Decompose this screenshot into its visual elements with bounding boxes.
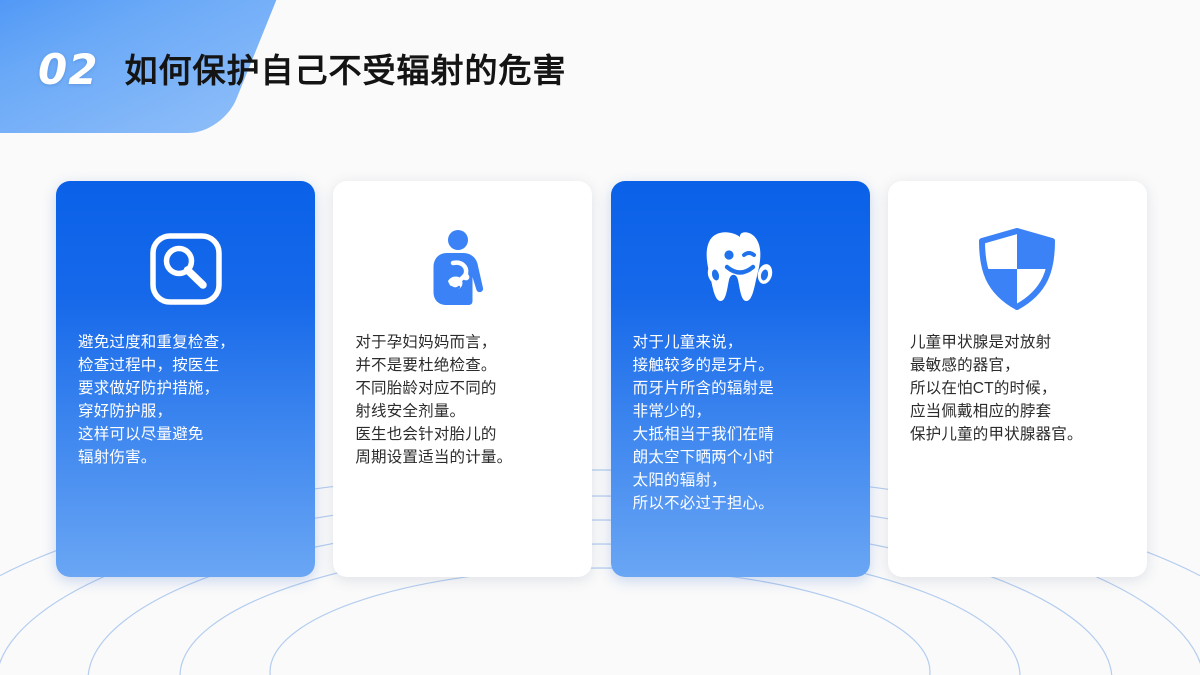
info-card-1-text: 避免过度和重复检查， 检查过程中，按医生 要求做好防护措施， 穿好防护服， 这样… — [78, 331, 293, 469]
info-card-2-text: 对于孕妇妈妈而言， 并不是要杜绝检查。 不同胎龄对应不同的 射线安全剂量。 医生… — [355, 331, 570, 469]
winking-tooth-icon — [698, 223, 782, 315]
info-card-1[interactable]: 避免过度和重复检查， 检查过程中，按医生 要求做好防护措施， 穿好防护服， 这样… — [56, 181, 315, 577]
info-card-4-text: 儿童甲状腺是对放射 最敏感的器官， 所以在怕CT的时候， 应当佩戴相应的脖套 保… — [910, 331, 1125, 446]
info-card-3-text: 对于儿童来说， 接触较多的是牙片。 而牙片所含的辐射是 非常少的， 大抵相当于我… — [633, 331, 848, 515]
info-card-3[interactable]: 对于儿童来说， 接触较多的是牙片。 而牙片所含的辐射是 非常少的， 大抵相当于我… — [611, 181, 870, 577]
section-number: 02 — [38, 49, 98, 91]
card-row: 避免过度和重复检查， 检查过程中，按医生 要求做好防护措施， 穿好防护服， 这样… — [56, 181, 1147, 577]
header: 02 如何保护自己不受辐射的危害 — [0, 0, 1200, 140]
pregnant-woman-icon — [425, 223, 501, 315]
magnifier-in-square-icon — [148, 223, 224, 315]
info-card-4[interactable]: 儿童甲状腺是对放射 最敏感的器官， 所以在怕CT的时候， 应当佩戴相应的脖套 保… — [888, 181, 1147, 577]
page-title: 如何保护自己不受辐射的危害 — [124, 54, 566, 87]
info-card-2[interactable]: 对于孕妇妈妈而言， 并不是要杜绝检查。 不同胎龄对应不同的 射线安全剂量。 医生… — [333, 181, 592, 577]
shield-icon — [978, 223, 1056, 315]
